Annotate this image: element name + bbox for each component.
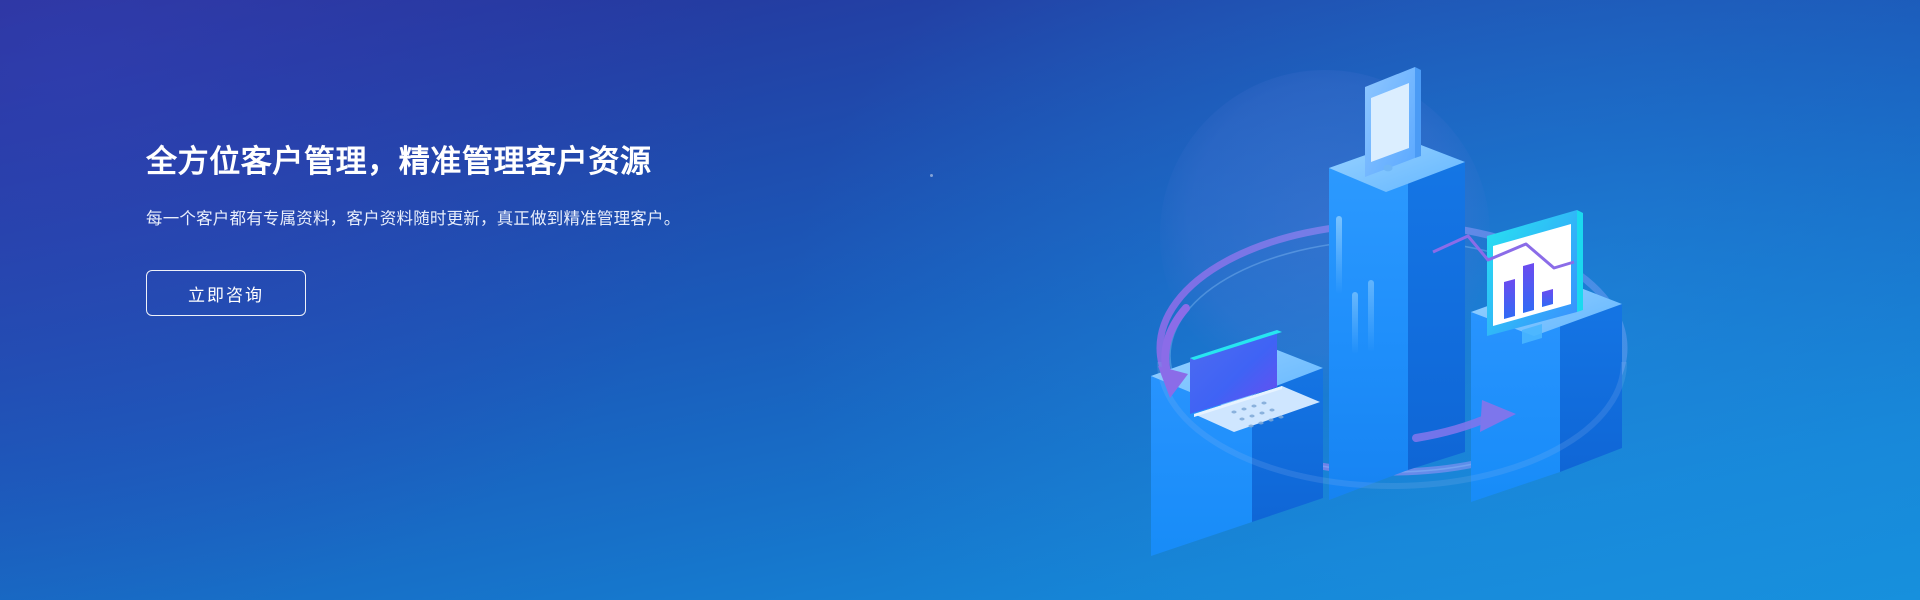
hero-illustration	[1130, 40, 1650, 560]
hero-subcopy: 每一个客户都有专属资料，客户资料随时更新，真正做到精准管理客户。	[146, 206, 734, 232]
isometric-pillars-svg	[1130, 40, 1650, 560]
consult-now-button[interactable]: 立即咨询	[146, 270, 306, 316]
hero-copy-block: 全方位客户管理，精准管理客户资源 每一个客户都有专属资料，客户资料随时更新，真正…	[146, 140, 826, 316]
background-speck	[930, 174, 933, 177]
pillar-left	[1151, 330, 1323, 556]
pillar-right	[1471, 210, 1622, 502]
hero-banner: 全方位客户管理，精准管理客户资源 每一个客户都有专属资料，客户资料随时更新，真正…	[0, 0, 1920, 600]
hero-headline: 全方位客户管理，精准管理客户资源	[146, 140, 826, 184]
